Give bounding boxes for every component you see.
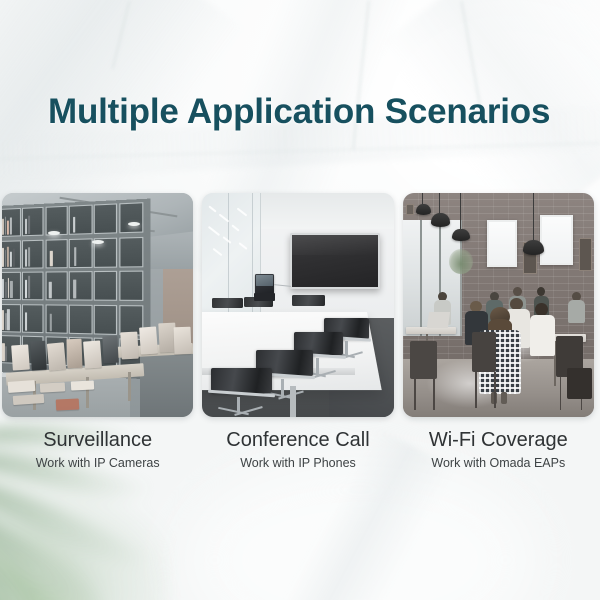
shelf-cell bbox=[22, 240, 44, 269]
glass-reflection bbox=[212, 248, 222, 256]
scenario-card-surveillance[interactable] bbox=[2, 193, 193, 417]
conference-chair-near[interactable] bbox=[206, 368, 279, 417]
shelf-cell bbox=[22, 272, 44, 301]
pendant-lamp bbox=[452, 229, 469, 241]
cafe-bag bbox=[567, 368, 592, 399]
pendant-lamp bbox=[416, 204, 431, 215]
library-pendant-lamp bbox=[92, 240, 104, 244]
display-book bbox=[83, 340, 102, 368]
caption-heading: Conference Call bbox=[202, 428, 393, 453]
shelf-cell bbox=[2, 241, 21, 270]
wall-sign bbox=[406, 204, 414, 215]
conference-chair-far bbox=[212, 298, 243, 308]
cafe-person bbox=[529, 303, 556, 357]
caption-subtext: Work with IP Phones bbox=[202, 454, 393, 473]
display-book bbox=[47, 342, 66, 370]
shelf-cell bbox=[22, 208, 44, 238]
bookstore-shelving-photo bbox=[2, 193, 193, 417]
display-book bbox=[67, 338, 83, 368]
conference-room-photo bbox=[202, 193, 393, 417]
shelf-cell bbox=[2, 304, 21, 333]
cafe-seating-photo bbox=[403, 193, 594, 417]
shelf-book bbox=[7, 309, 9, 331]
pendant-rod bbox=[533, 193, 534, 242]
chair-leg bbox=[560, 377, 562, 411]
cafe-window bbox=[487, 220, 518, 267]
scenario-caption-row: Surveillance Work with IP Cameras Confer… bbox=[2, 428, 594, 473]
shelf-cell bbox=[45, 305, 67, 335]
wall-picture-frame bbox=[579, 238, 592, 272]
glass-reflection bbox=[231, 224, 239, 231]
shelf-book bbox=[49, 282, 51, 299]
shelf-book bbox=[13, 249, 15, 268]
shelf-book bbox=[5, 283, 7, 299]
shelf-cell bbox=[94, 204, 118, 235]
glass-reflection bbox=[208, 206, 216, 213]
person-torso bbox=[568, 300, 585, 323]
cafe-plant bbox=[449, 249, 474, 274]
shelf-book bbox=[2, 310, 4, 330]
shelf-cell bbox=[119, 237, 143, 268]
pendant-rod bbox=[460, 193, 461, 231]
shelf-book bbox=[28, 247, 30, 267]
shelf-book bbox=[74, 280, 76, 300]
cafe-chair bbox=[472, 332, 497, 372]
chair-leg bbox=[475, 372, 477, 408]
shelf-book bbox=[26, 312, 28, 331]
shelf-book bbox=[73, 217, 75, 233]
stacked-books bbox=[13, 394, 44, 405]
shelf-book bbox=[2, 248, 4, 267]
shelf-book bbox=[2, 219, 4, 235]
shelf-cell bbox=[2, 209, 21, 238]
scenario-card-row bbox=[2, 193, 594, 417]
wall-mounted-tv bbox=[290, 233, 380, 289]
shelf-book bbox=[10, 218, 12, 235]
cafe-table bbox=[406, 327, 456, 334]
stacked-books bbox=[7, 380, 34, 393]
shelf-cell bbox=[94, 305, 118, 335]
shelf-book bbox=[2, 279, 4, 299]
pendant-rod bbox=[439, 193, 440, 215]
shelf-cell bbox=[119, 271, 143, 302]
chair-leg bbox=[433, 379, 435, 410]
display-book bbox=[139, 327, 158, 355]
shelf-cell bbox=[22, 304, 44, 333]
caption-surveillance: Surveillance Work with IP Cameras bbox=[2, 428, 193, 473]
shelf-cell bbox=[69, 239, 92, 269]
display-book bbox=[30, 340, 47, 370]
table-pedestal bbox=[290, 386, 296, 417]
cafe-person bbox=[567, 292, 586, 323]
scenario-card-conference-call[interactable] bbox=[202, 193, 393, 417]
person-head bbox=[535, 303, 548, 316]
shelf-book bbox=[8, 278, 10, 299]
glass-reflection bbox=[238, 242, 247, 250]
shelf-cell bbox=[45, 239, 67, 269]
laptop bbox=[426, 312, 449, 328]
shelf-cell bbox=[2, 273, 21, 302]
glass-reflection bbox=[236, 208, 247, 217]
tv-screen-glare bbox=[292, 235, 378, 255]
chair-leg bbox=[414, 379, 416, 410]
stacked-books bbox=[55, 398, 79, 410]
window-mullion bbox=[420, 220, 422, 336]
glass-reflection bbox=[208, 225, 220, 235]
display-book bbox=[11, 345, 30, 371]
display-book bbox=[120, 331, 139, 359]
chair-stem bbox=[237, 397, 240, 412]
phone-screen bbox=[256, 275, 272, 285]
shelf-cell bbox=[119, 203, 143, 234]
caption-heading: Wi-Fi Coverage bbox=[403, 428, 594, 453]
shelf-book bbox=[10, 281, 12, 299]
caption-subtext: Work with IP Cameras bbox=[2, 454, 193, 473]
shelf-cell bbox=[94, 272, 118, 302]
shelf-book bbox=[29, 277, 31, 299]
caption-heading: Surveillance bbox=[2, 428, 193, 453]
shelf-book bbox=[7, 247, 9, 268]
caption-subtext: Work with Omada EAPs bbox=[403, 454, 594, 473]
shelf-book bbox=[6, 346, 8, 362]
display-book bbox=[174, 327, 192, 354]
application-scenarios-banner: Multiple Application Scenarios bbox=[0, 0, 600, 600]
caption-conference-call: Conference Call Work with IP Phones bbox=[202, 428, 393, 473]
shelf-book bbox=[10, 252, 12, 267]
stacked-books bbox=[71, 381, 94, 391]
cafe-window bbox=[540, 215, 573, 264]
shelf-cell bbox=[69, 205, 92, 235]
shelf-cell bbox=[45, 272, 67, 301]
shelf-book bbox=[50, 252, 53, 267]
caption-wifi-coverage: Wi-Fi Coverage Work with Omada EAPs bbox=[403, 428, 594, 473]
conference-chair-far bbox=[292, 295, 325, 306]
page-title: Multiple Application Scenarios bbox=[48, 92, 550, 132]
cafe-chair bbox=[410, 341, 437, 379]
shelf-book bbox=[25, 280, 28, 299]
shelf-cell bbox=[69, 305, 92, 335]
stacked-books bbox=[40, 383, 65, 393]
shelf-book bbox=[28, 216, 30, 235]
ip-conference-phone bbox=[255, 274, 274, 294]
phone-base bbox=[254, 293, 275, 301]
person-leg bbox=[501, 392, 507, 404]
pendant-lamp bbox=[523, 240, 544, 255]
shelf-book bbox=[5, 250, 7, 267]
shelf-book bbox=[50, 314, 52, 332]
person-torso bbox=[530, 315, 555, 357]
scenario-card-wifi-coverage[interactable] bbox=[403, 193, 594, 417]
table-leg bbox=[128, 372, 131, 401]
shelf-book bbox=[75, 248, 77, 267]
shelf-book bbox=[25, 220, 27, 235]
chair-leg bbox=[494, 372, 496, 408]
pendant-lamp bbox=[431, 213, 450, 226]
display-book bbox=[103, 336, 120, 364]
library-counter bbox=[140, 350, 194, 417]
shelf-cell bbox=[69, 272, 92, 302]
